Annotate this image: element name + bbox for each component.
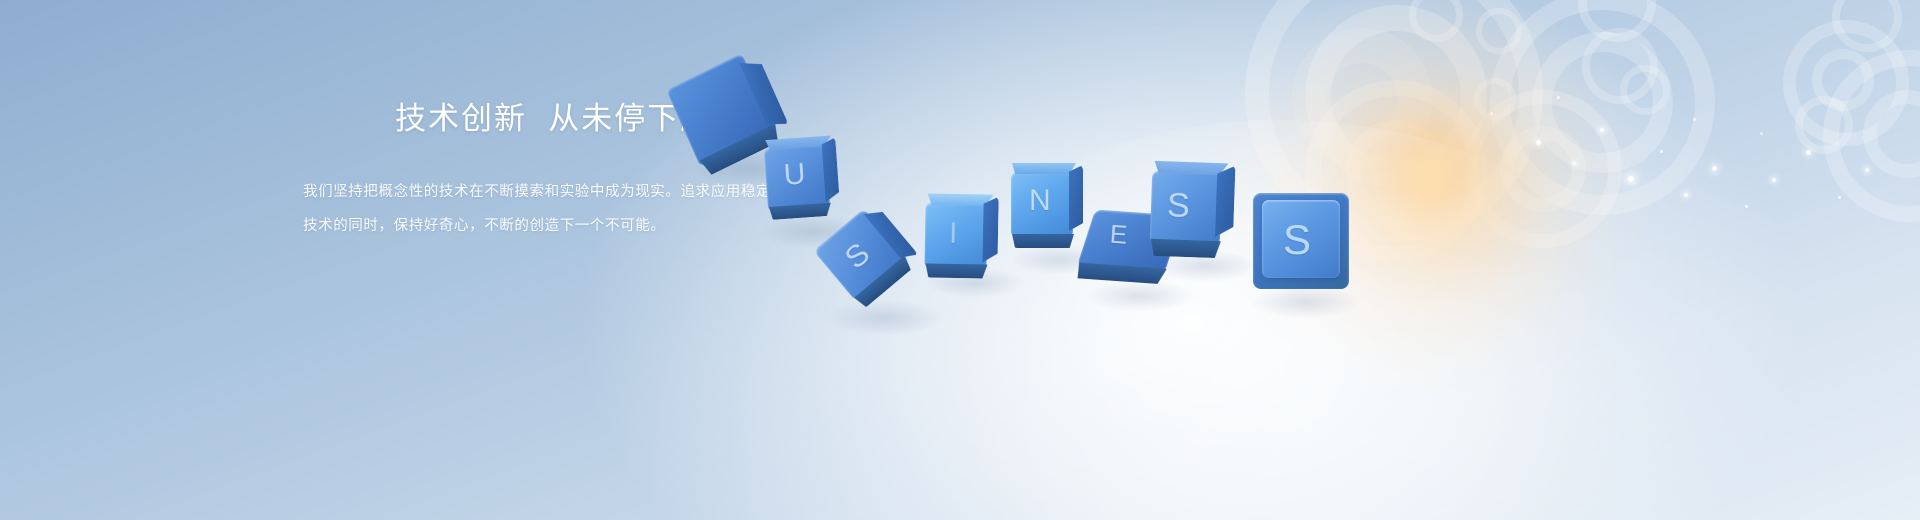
keycap-s2-front [1150, 239, 1221, 258]
keycap-s3: S [1253, 193, 1349, 289]
keycap-s2: S [1150, 171, 1222, 245]
sparkle-particle [1838, 196, 1841, 199]
keycap-shadow [1250, 285, 1360, 319]
keycap-n-side [1069, 165, 1083, 231]
decor-ring-right-small [1795, 96, 1853, 154]
decor-ring-lower-2-inner [1500, 126, 1586, 212]
keycap-i-side [983, 196, 999, 262]
keycap-n-bevel [1012, 163, 1076, 174]
keycap-u-label: U [783, 159, 807, 190]
decor-ring-lower-4 [1620, 65, 1670, 115]
keycap-n-label: N [1029, 186, 1051, 216]
sparkle-particle [1745, 205, 1748, 208]
keycap-i-front [925, 263, 987, 278]
hero-banner: 技术创新 从未停下脚步 我们坚持把概念性的技术在不断摸索和实验中成为现实。追求应… [0, 0, 1920, 520]
keycap-s2-side [1215, 165, 1236, 238]
keycap-n-front [1012, 234, 1074, 248]
keycap-shadow [825, 300, 945, 336]
page-title: 技术创新 从未停下脚步 [395, 100, 923, 137]
keycap-shadow [1085, 280, 1195, 312]
keycap-s2-label: S [1166, 188, 1190, 223]
keycap-n: N [1011, 172, 1073, 238]
keycap-u: U [764, 144, 830, 212]
keycap-i: I [924, 202, 987, 269]
sparkle-particle [1712, 166, 1717, 171]
decor-ring-small-1 [1476, 8, 1522, 54]
sparkle-particle [1684, 193, 1688, 197]
keycap-e-label: E [1109, 221, 1128, 248]
decor-circle-soft-1 [1292, 28, 1432, 168]
sparkle-particle [1760, 132, 1763, 135]
keycap-i-label: I [949, 219, 958, 249]
sparkle-particle [1772, 178, 1776, 182]
keycap-s3-label: S [1283, 219, 1311, 261]
